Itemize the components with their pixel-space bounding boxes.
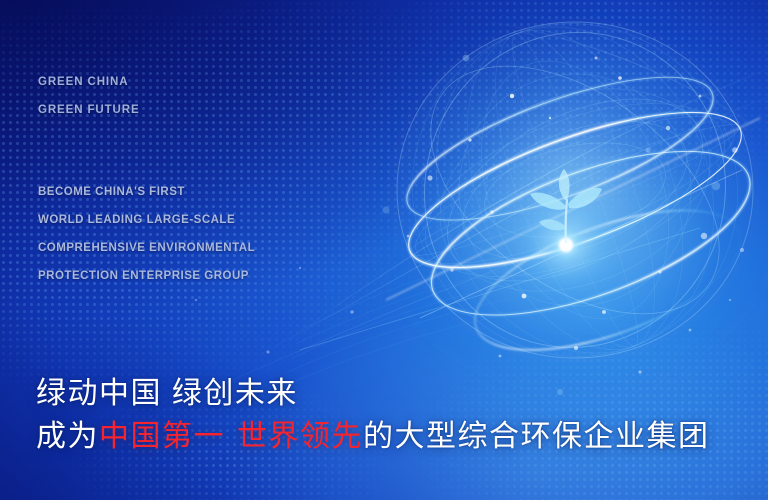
headline-prefix: 成为: [36, 420, 99, 453]
headline-suffix: 的大型综合环保企业集团: [363, 420, 710, 453]
headline-accent-1: 中国第一: [99, 420, 225, 453]
headline-line-2: 成为中国第一世界领先的大型综合环保企业集团: [36, 411, 710, 455]
claim-line-2: WORLD LEADING LARGE-SCALE: [38, 214, 235, 226]
headline-accent-2: 世界领先: [237, 420, 363, 453]
claim-line-3: COMPREHENSIVE ENVIRONMENTAL: [38, 242, 255, 254]
eyebrow-line-1: GREEN CHINA: [38, 76, 128, 88]
headline-line-1: 绿动中国 绿创未来: [36, 368, 298, 412]
claim-line-4: PROTECTION ENTERPRISE GROUP: [38, 270, 249, 282]
hero-banner: GREEN CHINA GREEN FUTURE BECOME CHINA'S …: [0, 0, 768, 500]
claim-line-1: BECOME CHINA'S FIRST: [38, 186, 185, 198]
eyebrow-line-2: GREEN FUTURE: [38, 104, 140, 116]
